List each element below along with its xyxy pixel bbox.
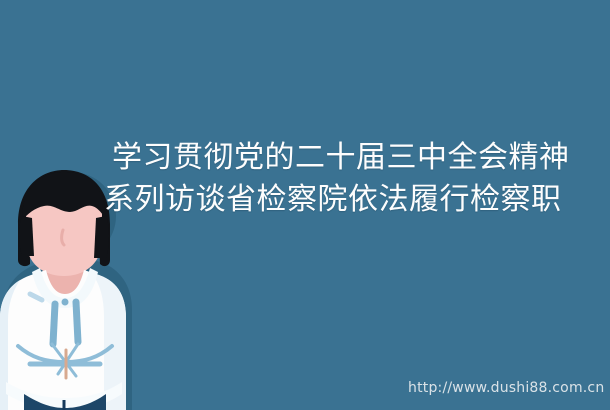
watermark-url: http://www.dushi88.com.cn xyxy=(408,379,604,397)
headline-line-2: 系列访谈省检察院依法履行检察职 xyxy=(100,179,600,221)
headline: 学习贯彻党的二十届三中全会精神 系列访谈省检察院依法履行检察职 xyxy=(100,137,600,221)
headline-line-1: 学习贯彻党的二十届三中全会精神 xyxy=(100,137,600,179)
news-banner-image: 学习贯彻党的二十届三中全会精神 系列访谈省检察院依法履行检察职 http://w… xyxy=(0,0,610,410)
